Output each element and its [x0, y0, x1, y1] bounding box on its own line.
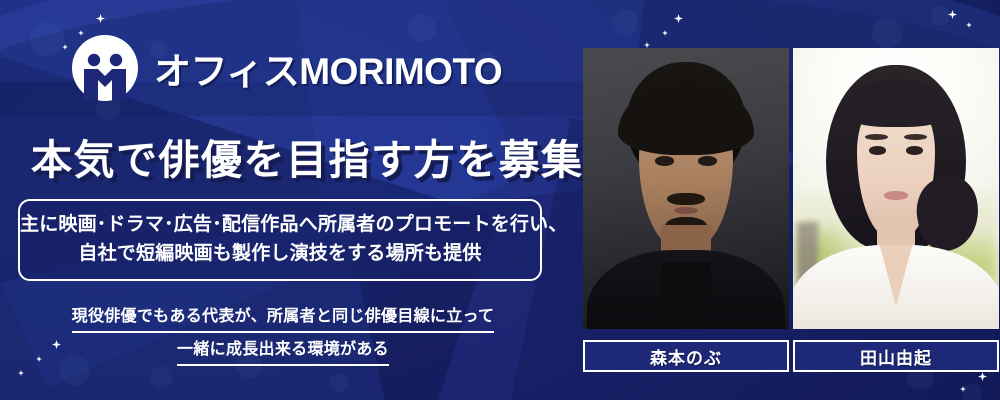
talent-photo-morimoto — [583, 48, 789, 329]
bokeh-dot — [930, 6, 950, 26]
photo-brow-left — [651, 144, 676, 151]
talent-photo-tayama — [793, 48, 999, 329]
subtitle-line-2: 自社で短編映画も製作し演技をする場所も提供 — [20, 240, 540, 269]
smiley-m-logo-icon — [70, 33, 140, 103]
photo-eye-right — [698, 156, 717, 166]
photo-brow-left — [865, 134, 888, 140]
content-column: オフィスMORIMOTO 本気で俳優を目指す方を募集！ 主に映画･ドラマ･広告･… — [0, 0, 570, 400]
photo-shirt — [661, 262, 710, 329]
photo-mouth — [674, 207, 699, 214]
subtitle-line-1: 主に映画･ドラマ･広告･配信作品へ所属者のプロモートを行い、 — [20, 211, 540, 240]
tagline: 現役俳優でもある代表が、所属者と同じ俳優目線に立って 一緒に成長出来る環境がある — [0, 305, 566, 366]
bokeh-dot — [962, 384, 982, 400]
photo-eye-left — [869, 146, 885, 154]
photo-eye-left — [655, 156, 674, 166]
talent-name: 森本のぶ — [650, 344, 722, 369]
page-title: 本気で俳優を目指す方を募集！ — [31, 126, 626, 186]
recruitment-banner: オフィスMORIMOTO 本気で俳優を目指す方を募集！ 主に映画･ドラマ･広告･… — [0, 0, 1000, 400]
photo-mouth — [884, 191, 909, 199]
brand-logo: オフィスMORIMOTO — [70, 33, 502, 103]
bokeh-dot — [872, 18, 902, 48]
bokeh-dot — [612, 10, 638, 36]
talent-name: 田山由起 — [860, 344, 932, 369]
tagline-line-2: 一緒に成長出来る環境がある — [177, 338, 389, 366]
tagline-line-1: 現役俳優でもある代表が、所属者と同じ俳優目線に立って — [72, 305, 495, 333]
photo-brow-right — [696, 144, 721, 151]
photo-moustache — [667, 193, 704, 206]
nameplate-tayama: 田山由起 — [793, 340, 999, 372]
subtitle-box: 主に映画･ドラマ･広告･配信作品へ所属者のプロモートを行い、 自社で短編映画も製… — [18, 199, 542, 281]
nameplate-morimoto: 森本のぶ — [583, 340, 789, 372]
photo-brow-right — [904, 134, 927, 140]
photo-eye-right — [906, 146, 922, 154]
brand-name: オフィスMORIMOTO — [154, 41, 502, 95]
